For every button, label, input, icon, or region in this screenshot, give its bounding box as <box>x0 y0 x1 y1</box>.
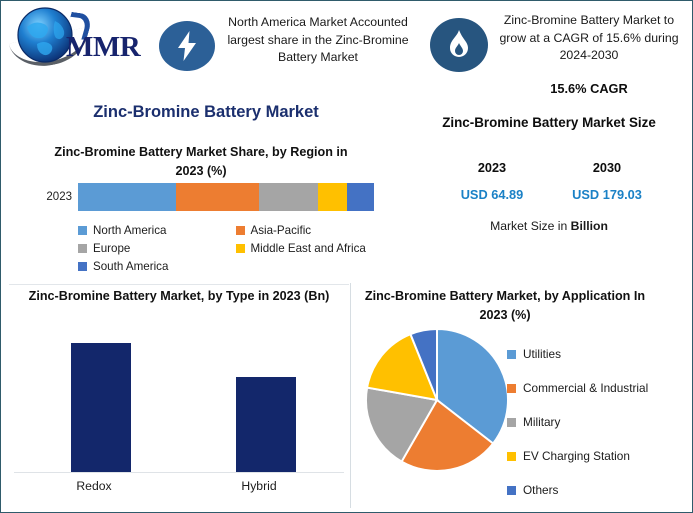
type-category-label: Redox <box>44 479 144 493</box>
market-size-unit: Billion <box>571 219 608 233</box>
header-highlight-left-text: North America Market Accounted largest s… <box>220 14 416 67</box>
region-bar-segment <box>318 183 348 211</box>
logo-wordmark: MMR <box>66 31 140 64</box>
application-legend-label: EV Charging Station <box>523 449 630 463</box>
region-share-chart: Zinc-Bromine Battery Market Share, by Re… <box>6 139 396 279</box>
application-legend-item: EV Charging Station <box>507 439 692 473</box>
region-bar-segment <box>259 183 318 211</box>
region-legend-item: South America <box>78 257 236 275</box>
region-legend-item: Middle East and Africa <box>236 239 394 257</box>
region-legend-label: Asia-Pacific <box>251 224 312 237</box>
region-legend-label: South America <box>93 260 168 273</box>
market-size-footer-prefix: Market Size in <box>490 219 571 233</box>
region-bar-segment <box>78 183 176 211</box>
market-size-year: 2030 <box>559 161 655 175</box>
header: MMR North America Market Accounted large… <box>1 1 692 96</box>
cagr-badge: 15.6% CAGR <box>490 81 688 96</box>
legend-swatch-icon <box>507 350 516 359</box>
type-axis-line <box>14 472 344 473</box>
market-size-value: USD 179.03 <box>552 187 662 202</box>
application-legend-label: Utilities <box>523 347 561 361</box>
type-category-label: Hybrid <box>209 479 309 493</box>
flame-icon <box>430 18 488 72</box>
infographic-root: MMR North America Market Accounted large… <box>0 0 693 513</box>
legend-swatch-icon <box>507 418 516 427</box>
market-size-title: Zinc-Bromine Battery Market Size <box>429 113 669 133</box>
type-plot-area <box>14 327 344 473</box>
application-legend-item: Utilities <box>507 337 692 371</box>
vertical-divider <box>350 283 351 508</box>
application-pie-chart: Zinc-Bromine Battery Market, by Applicat… <box>352 285 692 510</box>
region-legend: North AmericaAsia-PacificEuropeMiddle Ea… <box>78 221 393 275</box>
application-legend-label: Others <box>523 483 558 497</box>
region-legend-item: Asia-Pacific <box>236 221 394 239</box>
region-legend-label: Middle East and Africa <box>251 242 366 255</box>
legend-swatch-icon <box>507 486 516 495</box>
type-chart-title: Zinc-Bromine Battery Market, by Type in … <box>16 287 342 306</box>
region-legend-label: Europe <box>93 242 130 255</box>
market-size-value: USD 64.89 <box>437 187 547 202</box>
region-bar-segment <box>347 183 374 211</box>
application-legend-item: Military <box>507 405 692 439</box>
application-legend-item: Commercial & Industrial <box>507 371 692 405</box>
application-legend-label: Commercial & Industrial <box>523 381 648 395</box>
type-bar <box>71 343 131 473</box>
market-size-panel: Zinc-Bromine Battery Market Size 2023 20… <box>399 97 692 257</box>
region-chart-title: Zinc-Bromine Battery Market Share, by Re… <box>41 143 361 181</box>
legend-swatch-icon <box>78 262 87 271</box>
application-legend-item: Others <box>507 473 692 507</box>
header-highlight-right-text: Zinc-Bromine Battery Market to grow at a… <box>490 12 688 65</box>
legend-swatch-icon <box>507 452 516 461</box>
region-legend-label: North America <box>93 224 166 237</box>
legend-swatch-icon <box>236 226 245 235</box>
region-bar-segment <box>176 183 259 211</box>
application-legend-label: Military <box>523 415 560 429</box>
type-bar <box>236 377 296 473</box>
legend-swatch-icon <box>78 244 87 253</box>
application-legend: UtilitiesCommercial & IndustrialMilitary… <box>507 337 692 507</box>
legend-swatch-icon <box>78 226 87 235</box>
region-legend-item: Europe <box>78 239 236 257</box>
mmr-logo: MMR <box>11 5 146 67</box>
legend-swatch-icon <box>507 384 516 393</box>
legend-swatch-icon <box>236 244 245 253</box>
pie-graphic <box>364 327 510 473</box>
page-title: Zinc-Bromine Battery Market <box>21 103 391 122</box>
region-category-label: 2023 <box>20 191 72 203</box>
type-bar-chart: Zinc-Bromine Battery Market, by Type in … <box>6 285 350 510</box>
application-chart-title: Zinc-Bromine Battery Market, by Applicat… <box>360 287 650 325</box>
market-size-year: 2023 <box>444 161 540 175</box>
market-size-footer: Market Size in Billion <box>424 219 674 233</box>
region-legend-item: North America <box>78 221 236 239</box>
lightning-bolt-icon <box>159 21 215 71</box>
region-stacked-bar <box>78 183 374 211</box>
